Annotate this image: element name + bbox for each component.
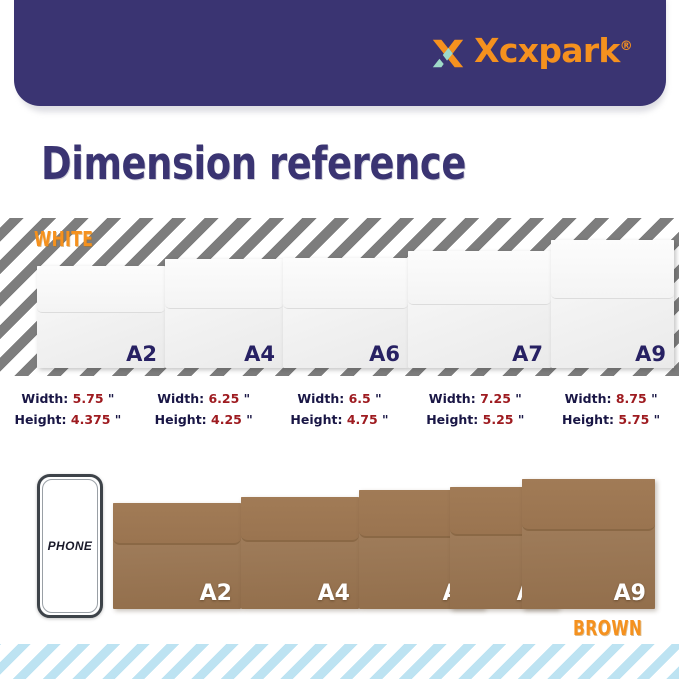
unit-inch: " <box>382 412 389 427</box>
unit-inch: " <box>244 391 251 406</box>
white-envelope-a2: A2 <box>37 266 165 368</box>
white-envelope-a4: A4 <box>165 259 283 368</box>
height-label: Height: <box>290 412 342 427</box>
width-label: Width: <box>21 391 68 406</box>
dimension-width-row: Width: 6.25 " <box>136 388 272 409</box>
envelope-flap <box>165 259 283 309</box>
dimension-height-row: Height: 5.25 " <box>407 409 543 430</box>
envelope-size-label: A4 <box>318 581 350 606</box>
brown-envelope-a2: A2 <box>113 503 241 609</box>
envelope-flap <box>113 503 241 545</box>
width-label: Width: <box>157 391 204 406</box>
footer-stripe-band <box>0 644 679 679</box>
dimension-height-row: Height: 4.25 " <box>136 409 272 430</box>
dimension-width-row: Width: 8.75 " <box>543 388 679 409</box>
infographic-page: Xcxpark® Dimension reference WHITE A2 A4… <box>0 0 679 679</box>
height-value: 4.25 <box>211 412 242 427</box>
height-label: Height: <box>14 412 66 427</box>
dimension-height-row: Height: 5.75 " <box>543 409 679 430</box>
height-value: 5.25 <box>483 412 514 427</box>
width-label: Width: <box>429 391 476 406</box>
unit-inch: " <box>515 391 522 406</box>
dimension-table: Width: 5.75 " Height: 4.375 " Width: 6.2… <box>0 388 679 430</box>
dimension-col-a2: Width: 5.75 " Height: 4.375 " <box>0 388 136 430</box>
width-value: 6.5 <box>349 391 371 406</box>
envelope-flap <box>522 479 655 531</box>
unit-inch: " <box>246 412 253 427</box>
dimension-col-a4: Width: 6.25 " Height: 4.25 " <box>136 388 272 430</box>
envelope-size-label: A9 <box>614 581 646 606</box>
dimension-col-a6: Width: 6.5 " Height: 4.75 " <box>272 388 408 430</box>
dimension-width-row: Width: 5.75 " <box>0 388 136 409</box>
brown-section-label: BROWN <box>573 618 642 638</box>
envelope-size-label: A4 <box>244 342 275 366</box>
page-title: Dimension reference <box>41 138 466 190</box>
envelope-flap <box>551 240 674 299</box>
height-label: Height: <box>562 412 614 427</box>
envelope-size-label: A6 <box>369 342 400 366</box>
width-value: 7.25 <box>480 391 511 406</box>
unit-inch: " <box>651 391 658 406</box>
height-value: 4.375 <box>71 412 111 427</box>
envelope-size-label: A9 <box>635 342 666 366</box>
header-bar: Xcxpark® <box>14 0 666 106</box>
white-envelope-a6: A6 <box>283 258 408 368</box>
phone-label: PHONE <box>48 539 93 553</box>
dimension-col-a7: Width: 7.25 " Height: 5.25 " <box>407 388 543 430</box>
unit-inch: " <box>518 412 525 427</box>
unit-inch: " <box>108 391 115 406</box>
width-value: 5.75 <box>73 391 104 406</box>
x-logo-icon <box>429 35 467 73</box>
height-label: Height: <box>155 412 207 427</box>
dimension-col-a9: Width: 8.75 " Height: 5.75 " <box>543 388 679 430</box>
height-value: 5.75 <box>618 412 649 427</box>
envelope-size-label: A2 <box>200 581 232 606</box>
dimension-height-row: Height: 4.75 " <box>272 409 408 430</box>
width-value: 8.75 <box>616 391 647 406</box>
envelope-size-label: A2 <box>126 342 157 366</box>
envelope-flap <box>37 266 165 313</box>
brand-logo: Xcxpark® <box>429 33 632 75</box>
width-value: 6.25 <box>208 391 239 406</box>
white-envelope-a7: A7 <box>408 251 551 368</box>
dimension-width-row: Width: 6.5 " <box>272 388 408 409</box>
envelope-flap <box>241 497 359 542</box>
white-section-label: WHITE <box>34 229 93 249</box>
height-value: 4.75 <box>347 412 378 427</box>
unit-inch: " <box>654 412 661 427</box>
brand-name: Xcxpark® <box>474 33 632 69</box>
registered-mark: ® <box>620 39 632 54</box>
brand-name-text: Xcxpark <box>474 31 620 70</box>
dimension-height-row: Height: 4.375 " <box>0 409 136 430</box>
phone-screen: PHONE <box>42 479 98 613</box>
width-label: Width: <box>297 391 344 406</box>
dimension-width-row: Width: 7.25 " <box>407 388 543 409</box>
unit-inch: " <box>375 391 382 406</box>
phone-reference: PHONE <box>37 474 103 618</box>
width-label: Width: <box>565 391 612 406</box>
white-envelope-a9: A9 <box>551 240 674 368</box>
brown-envelope-a4: A4 <box>241 497 359 609</box>
brown-envelope-a9: A9 <box>522 479 655 609</box>
envelope-flap <box>283 258 408 309</box>
envelope-flap <box>408 251 551 305</box>
envelope-size-label: A7 <box>512 342 543 366</box>
unit-inch: " <box>115 412 122 427</box>
height-label: Height: <box>426 412 478 427</box>
